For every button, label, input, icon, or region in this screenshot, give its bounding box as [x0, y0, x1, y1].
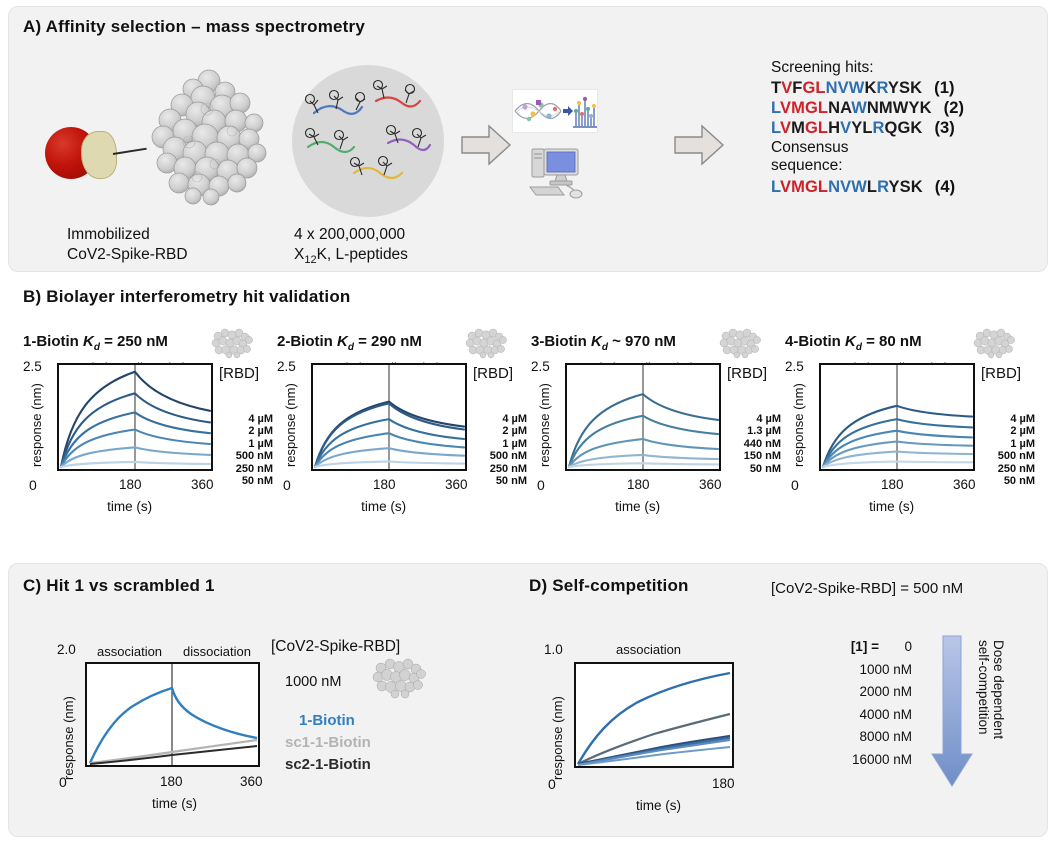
- bli-1-title: 1-Biotin Kd = 250 nM: [23, 333, 168, 353]
- residue: K: [911, 178, 923, 196]
- bli-2-legend-item-3: 500 nM: [465, 450, 527, 462]
- residue: W: [851, 178, 867, 196]
- bli-4-ymax: 2.5: [785, 359, 804, 374]
- residue: L: [818, 99, 828, 117]
- bli-2-legend-item-1: 2 µM: [465, 425, 527, 437]
- panel-d-xtick-180: 180: [712, 776, 735, 791]
- bli-4-legend-item-2: 1 µM: [973, 438, 1035, 450]
- bli-2-ymax: 2.5: [277, 359, 296, 374]
- bli-4-legend-item-5: 50 nM: [973, 475, 1035, 487]
- panel-d-ylabel: response (nm): [550, 696, 565, 780]
- sequence-index: (1): [934, 79, 954, 97]
- residue: L: [862, 119, 872, 137]
- bli-3-xtick-180: 180: [627, 477, 650, 492]
- panel-a-mid-caption-line2: X12K, L-peptides: [294, 245, 408, 270]
- residue: V: [840, 178, 851, 196]
- dose-arrow-label: Dose dependent self-competition: [976, 640, 1006, 739]
- residue: M: [791, 178, 805, 196]
- residue: Y: [851, 119, 862, 137]
- bli-4-legend: 4 µM2 µM1 µM500 nM250 nM50 nM: [973, 413, 1035, 487]
- residue: Y: [888, 79, 899, 97]
- residue: R: [877, 178, 888, 196]
- bli-2-title: 2-Biotin Kd = 290 nM: [277, 333, 422, 353]
- dose-gradient-arrow-icon: [930, 636, 974, 788]
- residue: G: [805, 178, 818, 196]
- bli-1-legend: 4 µM2 µM1 µM500 nM250 nM50 nM: [211, 413, 273, 487]
- residue: N: [828, 178, 840, 196]
- panel-d-series-header: [1] =: [851, 639, 879, 654]
- bli-2-ylabel: response (nm): [283, 383, 298, 467]
- residue: S: [900, 178, 911, 196]
- panel-d-series-list: [1] = 0 1000 nM 2000 nM 4000 nM 8000 nM …: [780, 636, 912, 771]
- bli-4-xtick-180: 180: [881, 477, 904, 492]
- bli-4-legend-item-4: 250 nM: [973, 463, 1035, 475]
- panel-c-xlabel: time (s): [152, 796, 197, 811]
- panel-d-ymin: 0: [548, 776, 556, 792]
- bli-4-ylabel: response (nm): [791, 383, 806, 467]
- bli-1-xlabel: time (s): [107, 499, 152, 514]
- bli-2-rbd-thumbnail-icon: [463, 327, 507, 357]
- bli-1-rbd-thumbnail-icon: [209, 327, 253, 357]
- bli-chart-1: 1-Biotin Kd = 250 nM2.5associationdissoc…: [23, 333, 273, 553]
- residue: S: [899, 79, 910, 97]
- bli-2-legend-title: [RBD]: [473, 365, 513, 382]
- panel-c-title: C) Hit 1 vs scrambled 1: [23, 576, 215, 596]
- sequence-index: (2): [944, 99, 964, 117]
- bli-3-legend: 4 µM1.3 µM440 nM150 nM50 nM: [719, 413, 781, 475]
- panel-c-xtick-180: 180: [160, 774, 183, 789]
- residue: G: [802, 79, 815, 97]
- bli-2-xlabel: time (s): [361, 499, 406, 514]
- bli-2-plot-area: [311, 363, 467, 471]
- sequence-line-3: LVMGLHVYLRQGK(3): [771, 119, 964, 138]
- panel-d-series-3: 4000 nM: [780, 704, 912, 727]
- residue: A: [840, 99, 851, 117]
- panel-c-ylabel: response (nm): [61, 696, 76, 780]
- screening-hits-header: Screening hits:: [771, 59, 964, 77]
- panel-d-series-4: 8000 nM: [780, 726, 912, 749]
- panel-c-rbd-thumbnail-icon: [369, 656, 427, 698]
- residue: M: [791, 99, 805, 117]
- peptide-library-circle: [292, 65, 444, 217]
- residue: W: [851, 99, 867, 117]
- residue: N: [828, 99, 840, 117]
- panel-b: B) Biolayer interferometry hit validatio…: [8, 278, 1048, 558]
- bli-4-xlabel: time (s): [869, 499, 914, 514]
- panel-d-series-1: 1000 nM: [780, 659, 912, 682]
- process-arrow-1-icon: [461, 124, 511, 166]
- panel-b-title: B) Biolayer interferometry hit validatio…: [23, 287, 351, 307]
- residue: V: [780, 99, 791, 117]
- dose-arrow-label-line2: self-competition: [976, 640, 991, 735]
- residue: T: [771, 79, 781, 97]
- panel-c-chart: 2.0 association dissociation response (n…: [57, 640, 517, 820]
- bli-3-ymin: 0: [537, 477, 545, 493]
- bli-chart-2: 2-Biotin Kd = 290 nM2.5associationdissoc…: [277, 333, 527, 553]
- bli-2-legend-item-5: 50 nM: [465, 475, 527, 487]
- bli-2-ymin: 0: [283, 477, 291, 493]
- residue: L: [771, 119, 780, 137]
- residue: V: [780, 119, 791, 137]
- panel-cd: C) Hit 1 vs scrambled 1 D) Self-competit…: [8, 563, 1048, 837]
- residue: Y: [888, 178, 899, 196]
- bli-3-legend-title: [RBD]: [727, 365, 767, 382]
- bli-2-legend: 4 µM2 µM1 µM500 nM250 nM50 nM: [465, 413, 527, 487]
- panel-c-curves: [87, 664, 258, 765]
- residue: M: [791, 119, 805, 137]
- streptavidin-linker-icon: [81, 131, 117, 179]
- panel-d-curves: [576, 664, 732, 766]
- bli-3-title: 3-Biotin Kd ~ 970 nM: [531, 333, 676, 353]
- residue: L: [815, 79, 825, 97]
- residue: L: [818, 178, 828, 196]
- residue: G: [805, 119, 818, 137]
- panel-d-series-2: 2000 nM: [780, 681, 912, 704]
- residue: K: [920, 99, 932, 117]
- bli-3-curves: [567, 365, 719, 469]
- panel-d-series-row-0: [1] = 0: [780, 636, 912, 659]
- bli-4-title: 4-Biotin Kd = 80 nM: [785, 333, 922, 353]
- sequence-index: (4): [935, 178, 955, 196]
- residue: F: [792, 79, 802, 97]
- panel-c-ymin: 0: [59, 774, 67, 790]
- bli-1-legend-item-4: 250 nM: [211, 463, 273, 475]
- bli-1-legend-item-0: 4 µM: [211, 413, 273, 425]
- residue: N: [867, 99, 879, 117]
- residue: Y: [908, 99, 919, 117]
- bli-1-legend-item-1: 2 µM: [211, 425, 273, 437]
- bli-2-legend-item-4: 250 nM: [465, 463, 527, 475]
- residue: L: [771, 178, 780, 196]
- bli-1-legend-item-2: 1 µM: [211, 438, 273, 450]
- bli-3-ymax: 2.5: [531, 359, 550, 374]
- residue: K: [864, 79, 876, 97]
- consensus-header-line1: Consensus: [771, 139, 964, 157]
- residue: G: [897, 119, 910, 137]
- residue: W: [893, 99, 909, 117]
- residue: V: [838, 79, 849, 97]
- residue: K: [910, 79, 922, 97]
- bli-3-plot-area: [565, 363, 721, 471]
- residue: N: [826, 79, 838, 97]
- panel-d-ymax: 1.0: [544, 642, 563, 657]
- panel-c-analyte-conc: 1000 nM: [285, 674, 341, 690]
- panel-a-left-caption-line1: Immobilized: [67, 225, 150, 244]
- bli-1-legend-item-5: 50 nM: [211, 475, 273, 487]
- bli-1-legend-title: [RBD]: [219, 365, 259, 382]
- panel-d-xlabel: time (s): [636, 798, 681, 813]
- figure-root: A) Affinity selection – mass spectrometr…: [0, 0, 1056, 845]
- sequence-line-1: TVFGLNVWKRYSK(1): [771, 79, 964, 98]
- residue: K: [910, 119, 922, 137]
- bli-1-ymax: 2.5: [23, 359, 42, 374]
- bli-3-ylabel: response (nm): [537, 383, 552, 467]
- panel-c-phase-association: association: [97, 644, 162, 659]
- bli-2-xtick-180: 180: [373, 477, 396, 492]
- bli-3-xtick-360: 360: [699, 477, 722, 492]
- bli-2-curves: [313, 365, 465, 469]
- bli-1-ylabel: response (nm): [29, 383, 44, 467]
- bli-2-legend-item-0: 4 µM: [465, 413, 527, 425]
- sequence-line-2: LVMGLNAWNMWYK(2): [771, 99, 964, 118]
- bli-2-legend-item-2: 1 µM: [465, 438, 527, 450]
- bli-1-curves: [59, 365, 211, 469]
- process-arrow-2-icon: [674, 124, 724, 166]
- panel-d-phase-association: association: [616, 642, 681, 657]
- panel-c-phase-dissociation: dissociation: [183, 644, 251, 659]
- panel-c-ymax: 2.0: [57, 642, 76, 657]
- bli-3-legend-item-1: 1.3 µM: [719, 425, 781, 437]
- panel-d-series-5: 16000 nM: [780, 749, 912, 772]
- residue: G: [805, 99, 818, 117]
- bli-4-curves: [821, 365, 973, 469]
- bli-chart-3: 3-Biotin Kd ~ 970 nM2.5associationdissoc…: [531, 333, 781, 553]
- bli-4-ymin: 0: [791, 477, 799, 493]
- residue: R: [876, 79, 887, 97]
- panel-c-legend-item-3: sc2-1-Biotin: [285, 754, 371, 775]
- bli-4-legend-item-0: 4 µM: [973, 413, 1035, 425]
- residue: V: [780, 178, 791, 196]
- rbd-protein-structure-icon: [137, 65, 277, 203]
- panel-d-chart: 1.0 association response (nm) 0 180 time…: [544, 640, 1044, 820]
- panel-d-title: D) Self-competition: [529, 576, 689, 596]
- bli-3-legend-item-3: 150 nM: [719, 450, 781, 462]
- residue: R: [873, 119, 885, 137]
- residue: H: [828, 119, 840, 137]
- residue: L: [771, 99, 780, 117]
- consensus-header-line2: sequence:: [771, 157, 964, 175]
- bli-3-legend-item-4: 50 nM: [719, 463, 781, 475]
- panel-d-series-0: 0: [904, 639, 912, 654]
- bli-1-ymin: 0: [29, 477, 37, 493]
- bli-4-rbd-thumbnail-icon: [971, 327, 1015, 357]
- mass-spectrometry-image: [512, 89, 598, 133]
- panel-d-plot-area: [574, 662, 734, 768]
- residue: L: [818, 119, 828, 137]
- residue: M: [879, 99, 893, 117]
- panel-a-left-caption-line2: CoV2-Spike-RBD: [67, 245, 188, 264]
- bli-4-legend-item-3: 500 nM: [973, 450, 1035, 462]
- sequence-index: (3): [934, 119, 954, 137]
- panel-d-condition: [CoV2-Spike-RBD] = 500 nM: [771, 580, 963, 597]
- screening-hits-block: Screening hits: TVFGLNVWKRYSK(1) LVMGLNA…: [771, 59, 964, 198]
- bli-4-plot-area: [819, 363, 975, 471]
- panel-c-legend-item-1: 1-Biotin: [299, 710, 355, 731]
- residue: W: [849, 79, 865, 97]
- residue: Q: [885, 119, 898, 137]
- panel-a-title: A) Affinity selection – mass spectrometr…: [23, 17, 365, 37]
- residue: L: [867, 178, 877, 196]
- dose-arrow-label-line1: Dose dependent: [991, 640, 1006, 739]
- panel-a: A) Affinity selection – mass spectrometr…: [8, 6, 1048, 272]
- bli-3-legend-item-0: 4 µM: [719, 413, 781, 425]
- residue: V: [840, 119, 851, 137]
- bli-1-xtick-180: 180: [119, 477, 142, 492]
- bli-3-legend-item-2: 440 nM: [719, 438, 781, 450]
- bli-chart-4: 4-Biotin Kd = 80 nM2.5associationdissoci…: [785, 333, 1035, 553]
- bli-3-xlabel: time (s): [615, 499, 660, 514]
- panel-a-mid-caption-line1: 4 x 200,000,000: [294, 225, 405, 244]
- panel-c-plot-area: [85, 662, 260, 767]
- bli-1-legend-item-3: 500 nM: [211, 450, 273, 462]
- sequence-line-4: LVMGLNVWLRYSK(4): [771, 178, 964, 197]
- bli-4-legend-item-1: 2 µM: [973, 425, 1035, 437]
- panel-c-legend-item-2: sc1-1-Biotin: [285, 732, 371, 753]
- panel-c-analyte-header: [CoV2-Spike-RBD]: [271, 638, 400, 656]
- bli-3-rbd-thumbnail-icon: [717, 327, 761, 357]
- bli-4-legend-title: [RBD]: [981, 365, 1021, 382]
- computer-icon: [524, 145, 590, 201]
- bli-1-plot-area: [57, 363, 213, 471]
- residue: V: [781, 79, 792, 97]
- panel-c-xtick-360: 360: [240, 774, 263, 789]
